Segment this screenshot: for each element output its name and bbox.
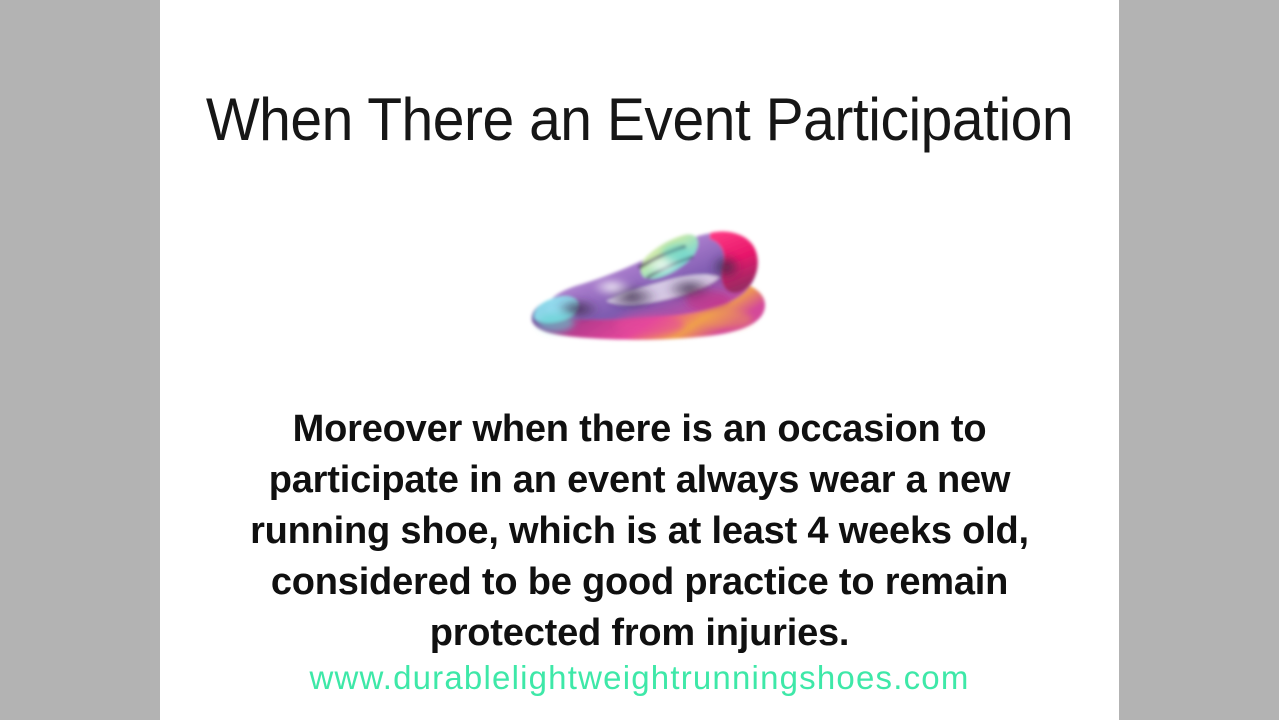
slide-canvas: When There an Event Participation (160, 0, 1119, 720)
slide-viewer: When There an Event Participation (0, 0, 1279, 720)
body-line: protected from injuries. (188, 608, 1091, 659)
slide-title: When There an Event Participation (184, 84, 1095, 156)
website-url[interactable]: www.durablelightweightrunningshoes.com (160, 658, 1119, 698)
slide-body-text: Moreover when there is an occasion to pa… (188, 404, 1091, 659)
running-shoe-image (520, 205, 780, 350)
running-shoe-icon (520, 205, 780, 350)
body-line: considered to be good practice to remain (188, 557, 1091, 608)
letterbox-bar-right (1119, 0, 1279, 720)
body-line: Moreover when there is an occasion to (188, 404, 1091, 455)
body-line: running shoe, which is at least 4 weeks … (188, 506, 1091, 557)
body-line: participate in an event always wear a ne… (188, 455, 1091, 506)
letterbox-bar-left (0, 0, 160, 720)
